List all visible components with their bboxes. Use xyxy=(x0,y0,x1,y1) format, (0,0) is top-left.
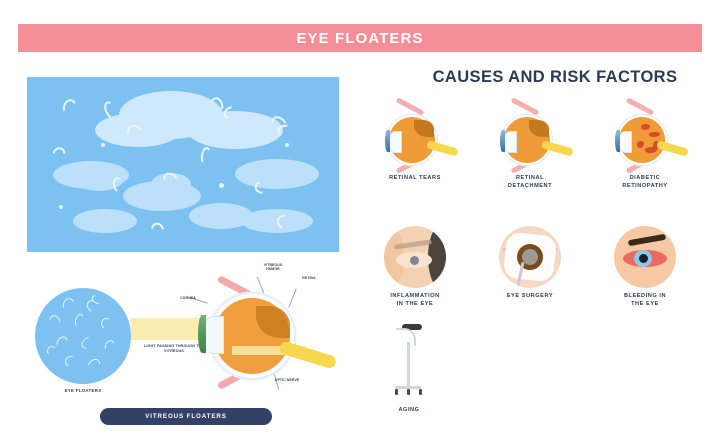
eye-cross-section-icon xyxy=(377,104,453,170)
detached-retina-area xyxy=(529,120,549,137)
lens xyxy=(388,131,402,153)
iris xyxy=(615,130,620,152)
floater-squiggle xyxy=(47,346,57,357)
eye-muscle xyxy=(626,97,655,115)
page-title: EYE FLOATERS xyxy=(296,30,423,47)
floaters-circle-caption: EYE FLOATERS xyxy=(35,388,131,393)
floater-dot xyxy=(285,143,289,147)
eye-cross-section-diagram xyxy=(196,282,316,390)
eye-muscle xyxy=(511,97,540,115)
cane-shaft xyxy=(407,342,410,388)
cause-label: AGING xyxy=(349,406,469,414)
hemorrhage-spot xyxy=(637,141,644,148)
sky-floaters-illustration xyxy=(27,77,339,252)
floater-squiggle xyxy=(79,335,95,351)
iris xyxy=(500,130,505,152)
eye-cross-section-icon xyxy=(492,104,568,170)
floater-squiggle xyxy=(47,313,62,329)
floater-dot xyxy=(219,183,224,188)
walking-cane-icon xyxy=(386,322,432,402)
floater-squiggle xyxy=(50,145,68,163)
cane-tip xyxy=(407,389,410,395)
optic-nerve xyxy=(426,140,459,157)
vitreous-floaters-label: VITREOUS FLOATERS xyxy=(145,413,227,420)
cause-label: EYE SURGERY xyxy=(470,292,590,300)
cause-eye-surgery: EYE SURGERY xyxy=(470,226,590,300)
lens xyxy=(618,131,632,153)
vitreous-humor xyxy=(214,298,290,374)
causes-heading: CAUSES AND RISK FACTORS xyxy=(410,68,700,87)
eyeball xyxy=(389,117,435,163)
cloud-shape xyxy=(187,111,283,149)
bloodshot-eye-photo-icon xyxy=(614,226,676,288)
cause-label: INFLAMMATION IN THE EYE xyxy=(355,292,475,309)
anno-retina: RETINA xyxy=(296,276,322,280)
cause-diabetic-retinopathy: DIABETIC RETINOPATHY xyxy=(585,104,705,191)
cause-aging: AGING xyxy=(349,322,469,414)
floater-squiggle xyxy=(103,339,116,354)
vitreous-floaters-banner: VITREOUS FLOATERS xyxy=(100,408,272,425)
optic-nerve xyxy=(278,340,337,369)
eye-muscle xyxy=(396,97,425,115)
iris xyxy=(198,315,206,353)
cane-tip xyxy=(419,389,422,395)
lens xyxy=(503,131,517,153)
floater-squiggle xyxy=(54,334,70,350)
cane-tip xyxy=(395,389,398,395)
retinal-tear-area xyxy=(414,120,434,137)
anno-optic-nerve: OPTIC NERVE xyxy=(272,378,302,382)
hemorrhage-spot xyxy=(649,132,660,137)
cloud-shape xyxy=(235,159,319,189)
leader-line xyxy=(288,289,296,308)
floater-squiggle xyxy=(61,297,76,313)
eyebrow xyxy=(628,234,666,247)
anno-cornea: CORNEA xyxy=(176,296,200,300)
leader-line xyxy=(257,276,265,293)
optic-nerve xyxy=(541,140,574,157)
cause-label: BLEEDING IN THE EYE xyxy=(585,292,705,309)
eye-surgery-photo-icon xyxy=(499,226,561,288)
cause-inflammation-in-the-eye: INFLAMMATION IN THE EYE xyxy=(355,226,475,309)
floater-dot xyxy=(101,143,105,147)
pupil xyxy=(639,254,648,263)
floater-squiggle xyxy=(86,356,102,372)
hemorrhage-spot xyxy=(641,124,650,130)
iris xyxy=(385,130,390,152)
eye-hemorrhage-icon xyxy=(607,104,683,170)
floater-squiggle xyxy=(100,317,113,330)
floater-squiggle xyxy=(149,220,167,238)
optic-nerve xyxy=(656,140,689,157)
eyeball xyxy=(504,117,550,163)
inflamed-eye-photo-icon xyxy=(384,226,446,288)
eye-floaters-closeup-circle xyxy=(35,288,131,384)
cause-label: RETINAL TEARS xyxy=(355,174,475,182)
cause-retinal-detachment: RETINAL DETACHMENT xyxy=(470,104,590,191)
floater-dot xyxy=(59,205,63,209)
floater-squiggle xyxy=(74,313,85,328)
cause-label: DIABETIC RETINOPATHY xyxy=(585,174,705,191)
anno-vitreous-humor: VITREOUS HUMOR xyxy=(258,263,288,272)
pupil xyxy=(410,256,419,265)
cloud-shape xyxy=(73,209,137,233)
cause-label: RETINAL DETACHMENT xyxy=(470,174,590,191)
floater-squiggle xyxy=(63,354,77,368)
floater-squiggle xyxy=(61,97,79,116)
floater-squiggle xyxy=(200,146,212,165)
cane-hook xyxy=(396,328,416,346)
eyeball xyxy=(619,117,665,163)
page-title-banner: EYE FLOATERS xyxy=(18,24,702,52)
cause-retinal-tears: RETINAL TEARS xyxy=(355,104,475,182)
cause-bleeding-in-the-eye: BLEEDING IN THE EYE xyxy=(585,226,705,309)
